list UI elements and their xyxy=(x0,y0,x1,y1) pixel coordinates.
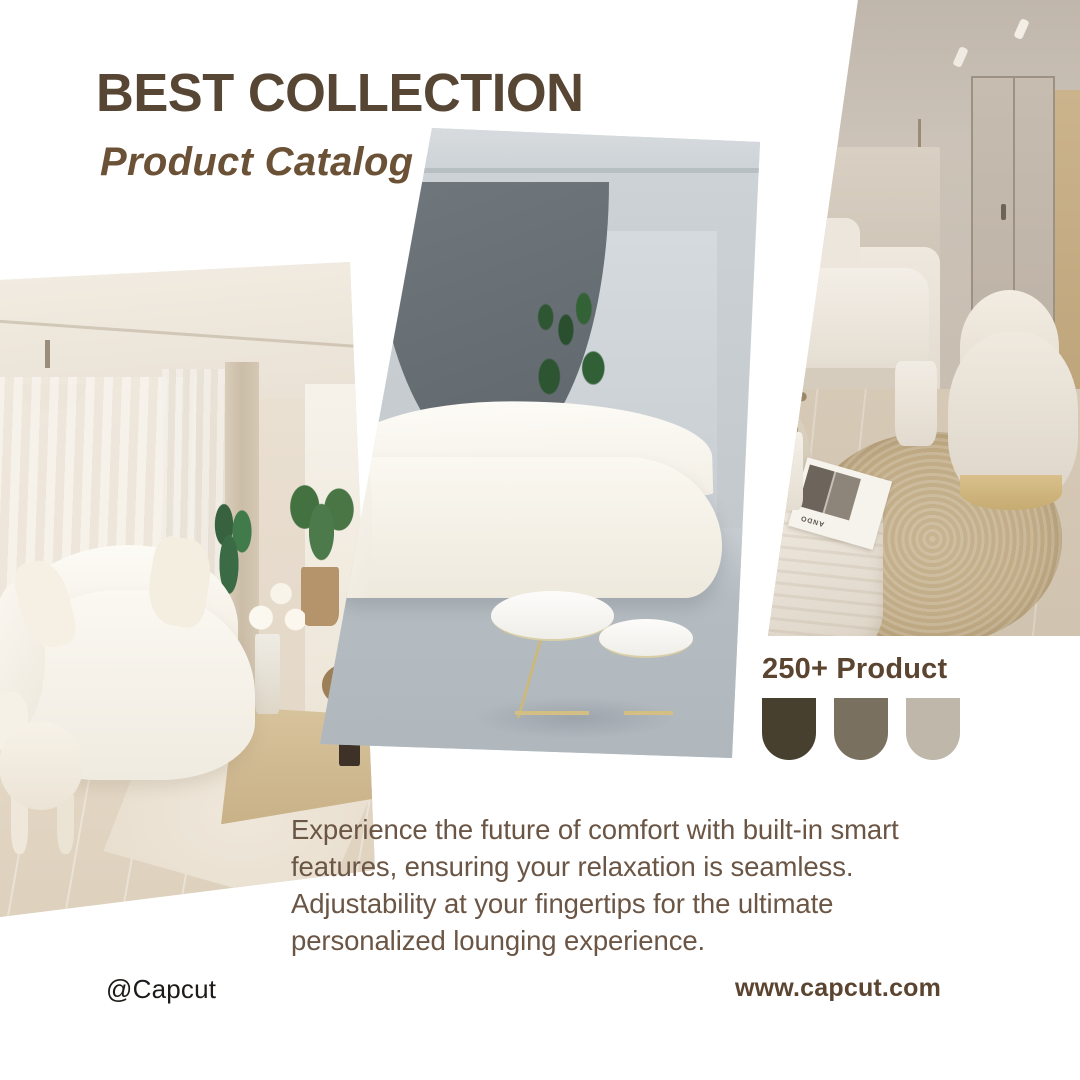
color-swatch-group xyxy=(762,698,960,760)
product-count-label: 250+ Product xyxy=(762,653,960,686)
studio-sofa-photo xyxy=(320,128,760,758)
social-handle: @Capcut xyxy=(106,974,216,1005)
page-subtitle: Product Catalog xyxy=(100,140,413,185)
bedroom-photo: ANDO xyxy=(740,0,1080,636)
product-count-block: 250+ Product xyxy=(762,653,960,760)
website-url[interactable]: www.capcut.com xyxy=(735,974,941,1003)
swatch-light-beige[interactable] xyxy=(906,698,960,760)
body-paragraph: Experience the future of comfort with bu… xyxy=(291,812,971,959)
swatch-dark-olive[interactable] xyxy=(762,698,816,760)
swatch-taupe[interactable] xyxy=(834,698,888,760)
page-title: BEST COLLECTION xyxy=(96,62,583,124)
